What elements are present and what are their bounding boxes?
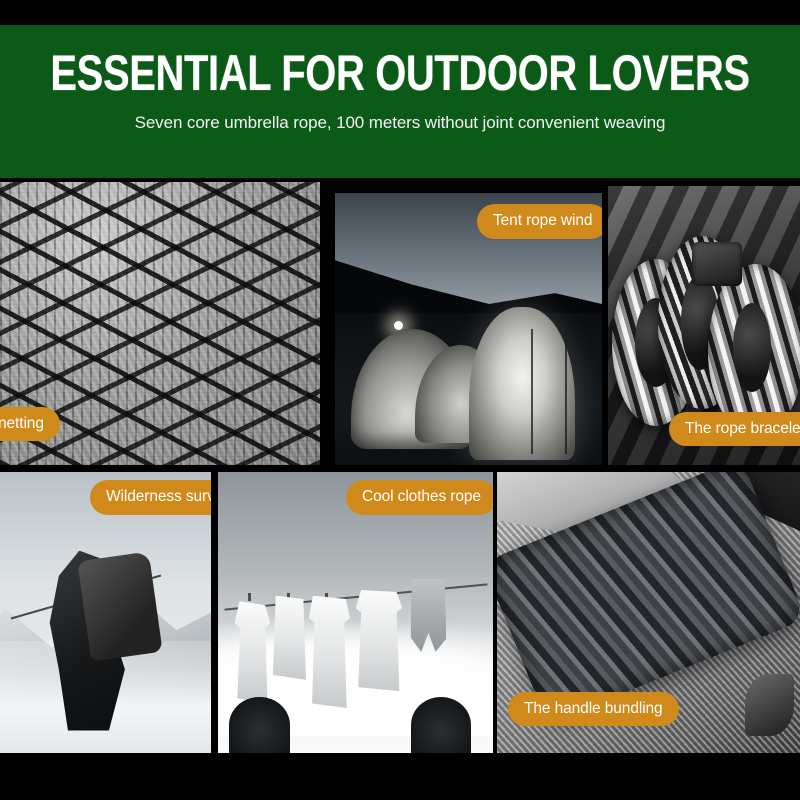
gallery-tile-wilderness-survival[interactable]: Wilderness survival	[0, 472, 211, 753]
clothes-peg-1	[248, 593, 251, 601]
badge-netting: netting	[0, 407, 60, 442]
gallery-tile-handle-bundling[interactable]: The handle bundling	[497, 472, 800, 753]
badge-rope-bracelet: The rope bracelet	[669, 412, 800, 447]
hanging-garment-2	[273, 596, 306, 680]
hanging-garment-4	[356, 590, 403, 691]
gallery-tile-netting[interactable]: netting	[0, 182, 320, 465]
photo-gallery: netting Tent rope wind The rope bracele	[0, 0, 800, 800]
handle-pommel	[745, 674, 793, 736]
gallery-tile-cool-clothes-rope[interactable]: Cool clothes rope	[218, 472, 493, 753]
badge-tent-rope-wind: Tent rope wind	[477, 204, 602, 239]
bracelet-buckle	[692, 242, 742, 287]
treetop-right	[411, 697, 472, 753]
badge-wilderness-survival: Wilderness survival	[90, 480, 211, 515]
guy-line-right	[565, 324, 567, 455]
band-opening-3	[733, 303, 771, 392]
lantern-light	[394, 321, 403, 330]
gallery-tile-tent-rope-wind[interactable]: Tent rope wind	[335, 193, 602, 465]
backpack	[78, 552, 163, 662]
treetop-left	[229, 697, 290, 753]
badge-handle-bundling: The handle bundling	[508, 692, 679, 727]
hanging-garment-3	[309, 596, 350, 708]
badge-cool-clothes-rope: Cool clothes rope	[346, 480, 493, 515]
hanging-garment-1	[235, 601, 271, 702]
gallery-tile-rope-bracelet[interactable]: The rope bracelet	[608, 186, 800, 465]
guy-line-left	[531, 329, 533, 454]
